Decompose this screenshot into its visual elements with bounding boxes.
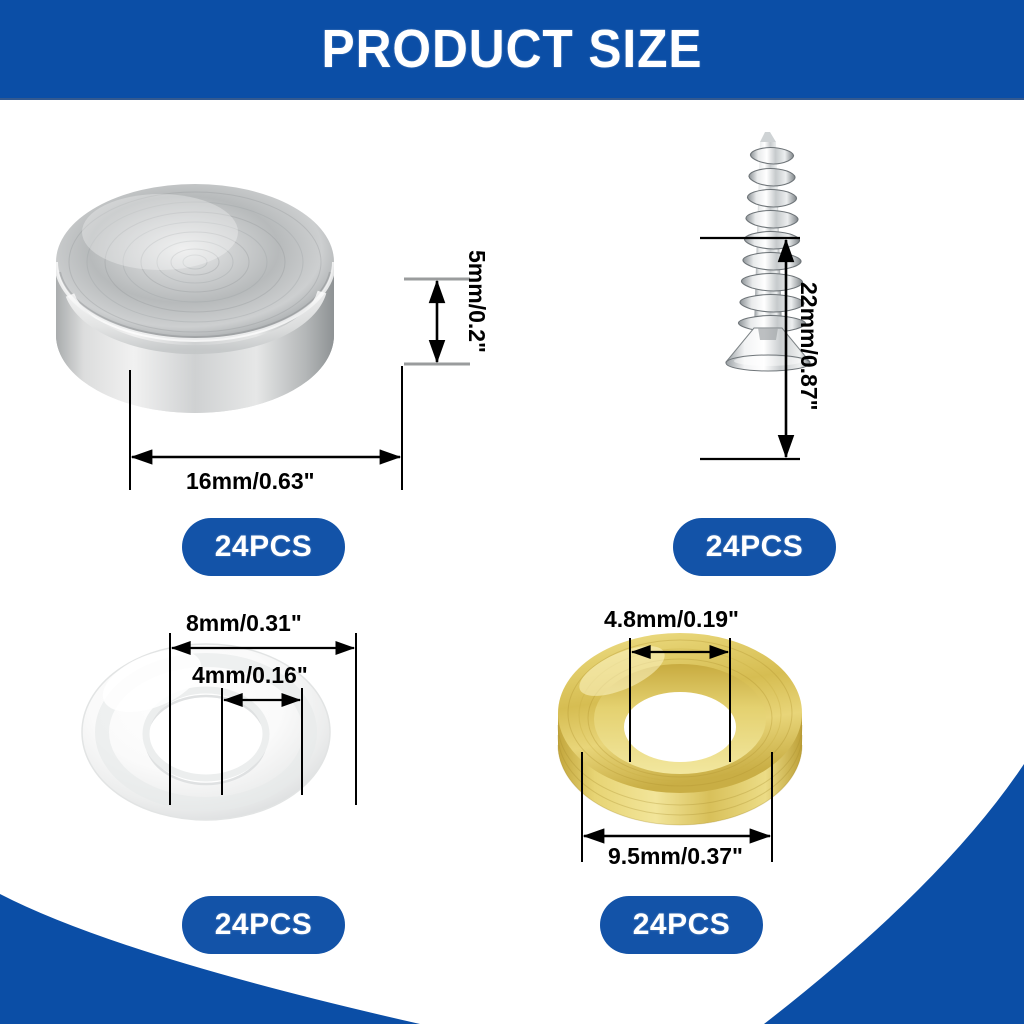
dimension-label-washer-inner: 4mm/0.16" — [192, 662, 308, 689]
dimension-label-cap-diameter: 16mm/0.63" — [186, 468, 315, 495]
product-size-infographic: PRODUCT SIZE — [0, 0, 1024, 1024]
quantity-badge-brass-ring: 24PCS — [600, 896, 763, 954]
header-banner: PRODUCT SIZE — [0, 0, 1024, 100]
dimension-label-washer-outer: 8mm/0.31" — [186, 610, 302, 637]
corner-decoration-bottom-left — [0, 894, 420, 1024]
corner-decoration-bottom-right — [764, 764, 1024, 1024]
quantity-badge-mirror-cap: 24PCS — [182, 518, 345, 576]
dimension-label-ring-outer: 9.5mm/0.37" — [608, 843, 743, 870]
page-title: PRODUCT SIZE — [322, 18, 703, 80]
quantity-badge-screw: 24PCS — [673, 518, 836, 576]
dimension-label-screw-length: 22mm/0.87" — [795, 282, 822, 411]
dimension-label-ring-inner: 4.8mm/0.19" — [604, 606, 739, 633]
dimension-label-cap-height: 5mm/0.2" — [463, 250, 490, 353]
